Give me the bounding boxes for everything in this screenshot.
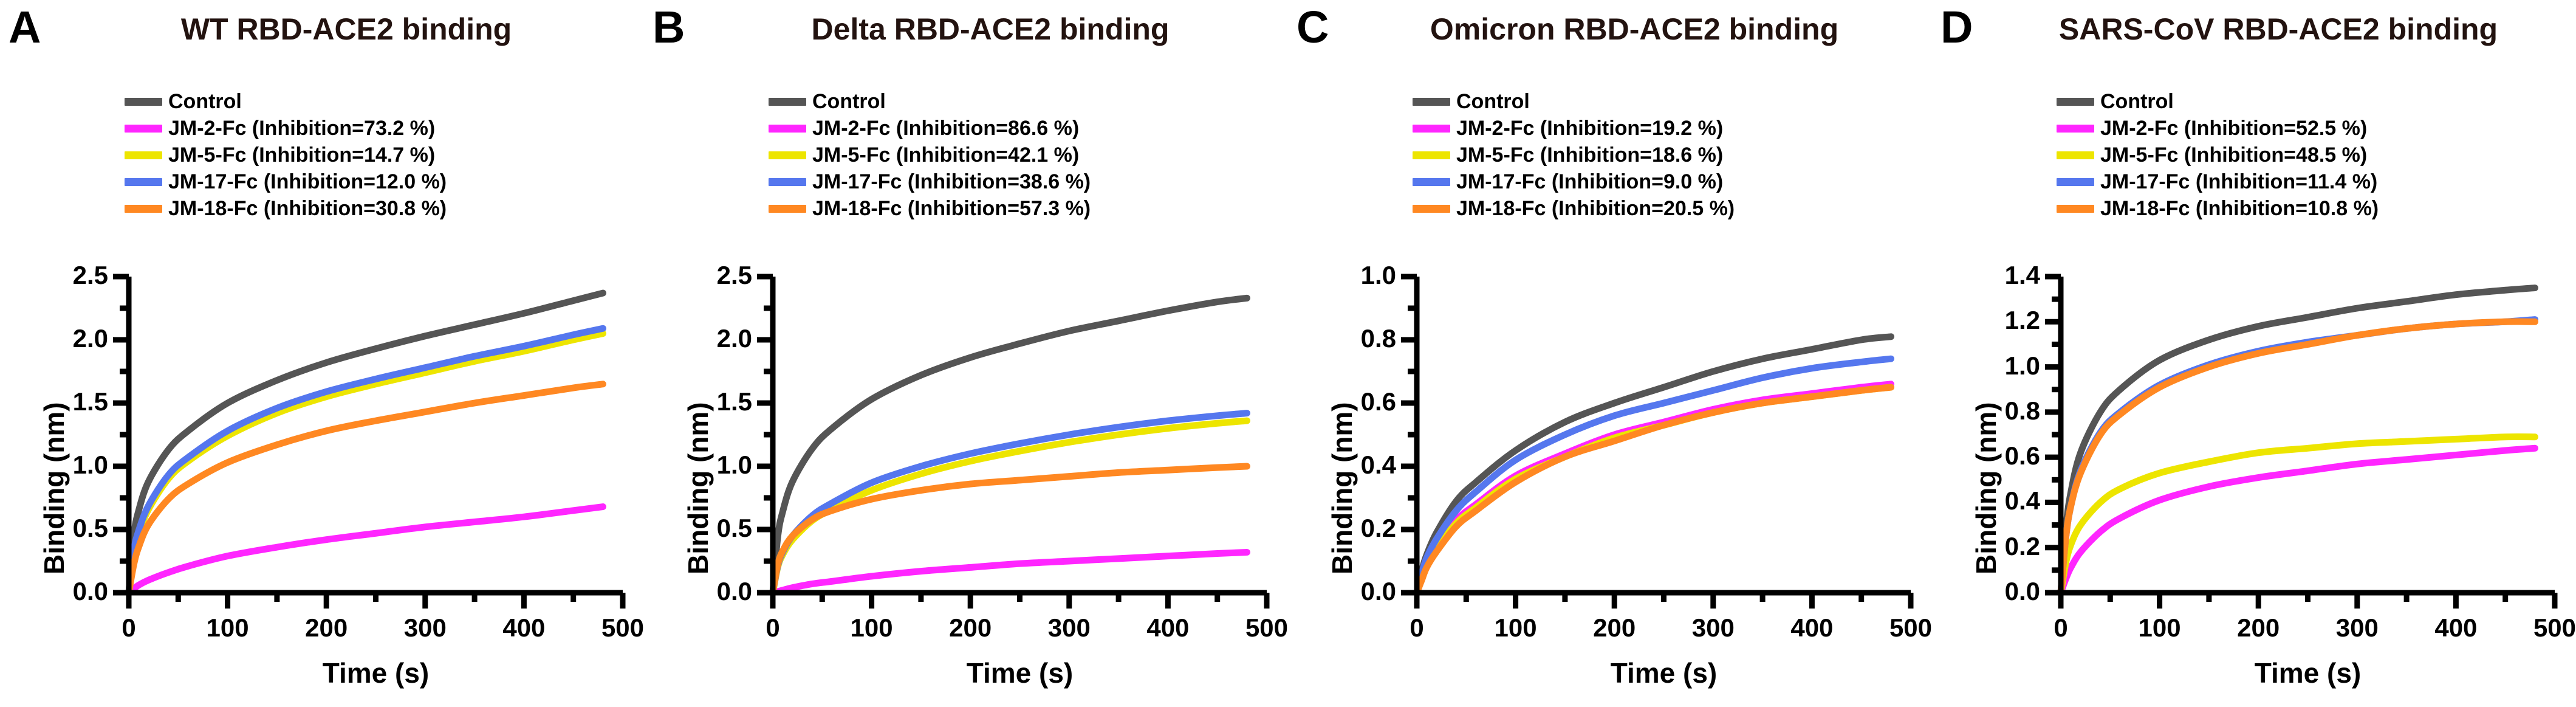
- y-tick-label: 0.4: [2005, 486, 2040, 516]
- plot-wrapper: 0.00.51.01.52.02.50100200300400500Bindin…: [644, 0, 1288, 707]
- panel-b: BDelta RBD-ACE2 bindingControlJM-2-Fc (I…: [644, 0, 1288, 707]
- y-tick-label: 0.8: [1361, 324, 1396, 353]
- y-tick-label: 0.0: [2005, 577, 2040, 606]
- x-axis-title: Time (s): [1417, 657, 1911, 689]
- y-tick-label: 1.4: [2005, 261, 2040, 290]
- y-tick-label: 1.2: [2005, 306, 2040, 335]
- y-tick-label: 2.5: [717, 261, 752, 290]
- x-tick-label: 300: [389, 613, 462, 643]
- x-tick-label: 200: [2222, 613, 2295, 643]
- curve-group: [1417, 337, 1891, 593]
- x-tick-label: 200: [1578, 613, 1651, 643]
- y-tick-label: 1.5: [73, 387, 108, 416]
- y-axis-title: Binding (nm): [1970, 402, 2002, 574]
- panel-d: DSARS-CoV RBD-ACE2 bindingControlJM-2-Fc…: [1932, 0, 2576, 707]
- y-tick-label: 0.0: [717, 577, 752, 606]
- y-tick-label: 2.0: [73, 324, 108, 353]
- series-line-jm-2-fc: [2061, 448, 2535, 593]
- x-tick-label: 300: [1677, 613, 1750, 643]
- series-line-jm-2-fc: [1417, 384, 1891, 593]
- series-line-jm-18-fc: [1417, 387, 1891, 593]
- x-tick-label: 100: [2123, 613, 2196, 643]
- x-tick-label: 300: [1033, 613, 1106, 643]
- x-tick-label: 300: [2321, 613, 2394, 643]
- axes: [113, 277, 623, 609]
- figure-root: AWT RBD-ACE2 bindingControlJM-2-Fc (Inhi…: [0, 0, 2576, 707]
- axes: [2045, 277, 2555, 609]
- y-tick-label: 0.0: [73, 577, 108, 606]
- plot-wrapper: 0.00.51.01.52.02.50100200300400500Bindin…: [0, 0, 644, 707]
- y-tick-label: 1.0: [1361, 261, 1396, 290]
- series-line-control: [129, 293, 603, 593]
- panel-a: AWT RBD-ACE2 bindingControlJM-2-Fc (Inhi…: [0, 0, 644, 707]
- plot-wrapper: 0.00.20.40.60.81.00100200300400500Bindin…: [1288, 0, 1932, 707]
- series-line-jm-5-fc: [1417, 387, 1891, 593]
- series-line-jm-2-fc: [773, 552, 1247, 593]
- x-axis-title: Time (s): [129, 657, 623, 689]
- y-tick-label: 2.5: [73, 261, 108, 290]
- y-tick-label: 0.0: [1361, 577, 1396, 606]
- curve-group: [2061, 288, 2535, 593]
- y-tick-label: 0.2: [1361, 514, 1396, 543]
- x-tick-label: 400: [1131, 613, 1204, 643]
- series-line-jm-17-fc: [129, 328, 603, 593]
- x-tick-label: 100: [1479, 613, 1552, 643]
- series-line-jm-2-fc: [129, 507, 603, 593]
- curve-group: [129, 293, 603, 593]
- y-tick-label: 1.0: [73, 450, 108, 480]
- series-line-jm-18-fc: [773, 466, 1247, 593]
- y-tick-label: 0.8: [2005, 396, 2040, 426]
- y-axis-title: Binding (nm): [1326, 402, 1358, 574]
- x-tick-label: 400: [487, 613, 560, 643]
- curve-group: [773, 298, 1247, 593]
- y-tick-label: 0.5: [717, 514, 752, 543]
- x-tick-label: 200: [290, 613, 363, 643]
- x-tick-label: 100: [835, 613, 908, 643]
- x-tick-label: 400: [2419, 613, 2492, 643]
- y-tick-label: 0.2: [2005, 532, 2040, 561]
- x-tick-label: 0: [2024, 613, 2097, 643]
- y-tick-label: 0.6: [2005, 441, 2040, 471]
- x-tick-label: 0: [736, 613, 809, 643]
- x-axis-title: Time (s): [773, 657, 1267, 689]
- y-axis-title: Binding (nm): [682, 402, 714, 574]
- plot-wrapper: 0.00.20.40.60.81.01.21.40100200300400500…: [1932, 0, 2576, 707]
- y-tick-label: 1.0: [2005, 351, 2040, 381]
- y-tick-label: 1.0: [717, 450, 752, 480]
- x-tick-label: 100: [191, 613, 264, 643]
- x-tick-label: 200: [934, 613, 1007, 643]
- x-tick-label: 0: [92, 613, 165, 643]
- series-line-jm-5-fc: [129, 334, 603, 593]
- y-tick-label: 1.5: [717, 387, 752, 416]
- y-tick-label: 0.5: [73, 514, 108, 543]
- y-tick-label: 2.0: [717, 324, 752, 353]
- y-tick-label: 0.6: [1361, 387, 1396, 416]
- axes: [1401, 277, 1911, 609]
- x-tick-label: 400: [1775, 613, 1848, 643]
- panel-c: COmicron RBD-ACE2 bindingControlJM-2-Fc …: [1288, 0, 1932, 707]
- y-tick-label: 0.4: [1361, 450, 1396, 480]
- x-tick-label: 500: [2518, 613, 2576, 643]
- series-line-control: [1417, 337, 1891, 593]
- x-axis-title: Time (s): [2061, 657, 2555, 689]
- y-axis-title: Binding (nm): [38, 402, 70, 574]
- x-tick-label: 0: [1380, 613, 1453, 643]
